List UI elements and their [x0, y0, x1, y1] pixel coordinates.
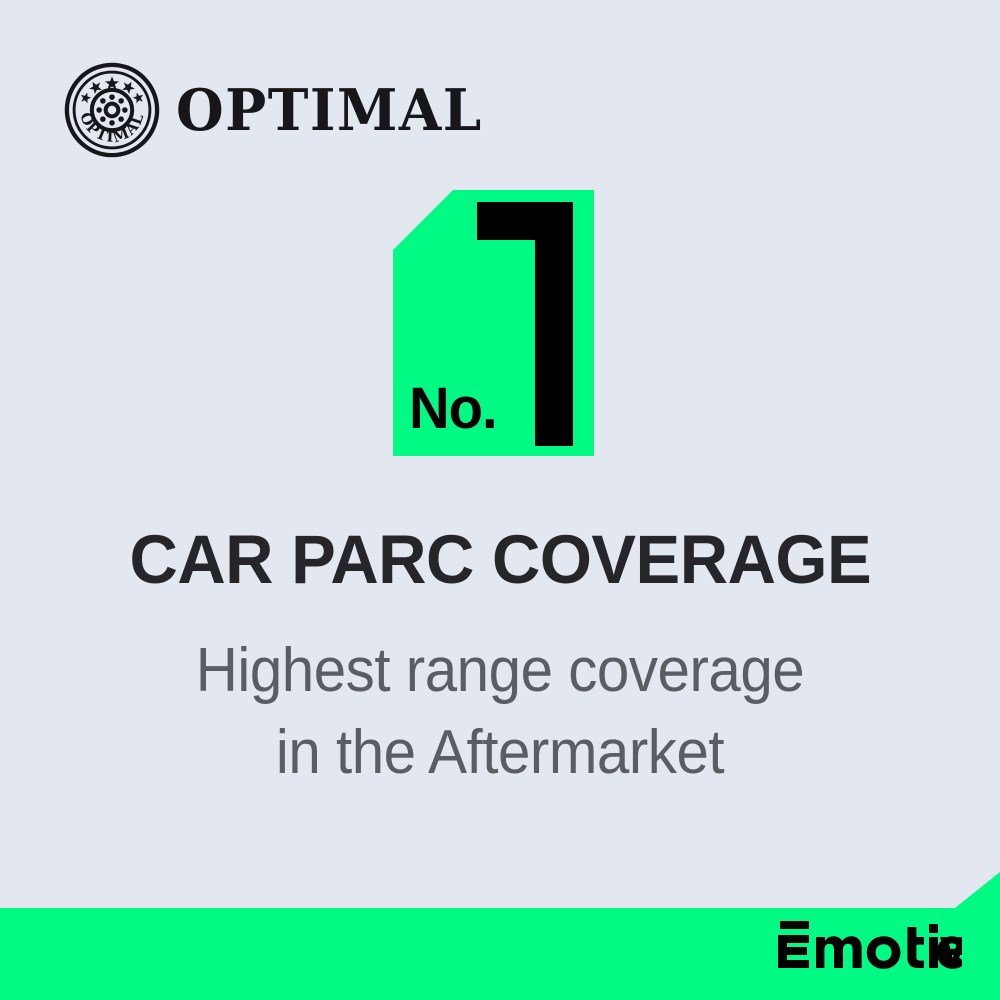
page-title-text: CAR PARC COVERAGE [129, 525, 871, 594]
page-subtitle: Highest range coverage in the Aftermarke… [0, 630, 1000, 794]
brand-lockup: OPTIMAL OPTIMAL [64, 62, 496, 158]
brand-wordmark: OPTIMAL [176, 82, 483, 139]
poster-canvas: OPTIMAL OPTIMAL [0, 0, 1000, 1000]
rank-prefix-label: No. [409, 380, 497, 438]
page-subtitle-line-2: in the Aftermarket [30, 712, 970, 794]
page-title: CAR PARC COVERAGE [0, 525, 1000, 594]
rank-badge-tile: No. [393, 190, 594, 456]
page-subtitle-line-1: Highest range coverage [30, 630, 970, 712]
optimal-wheel-badge-icon: OPTIMAL [64, 62, 160, 158]
